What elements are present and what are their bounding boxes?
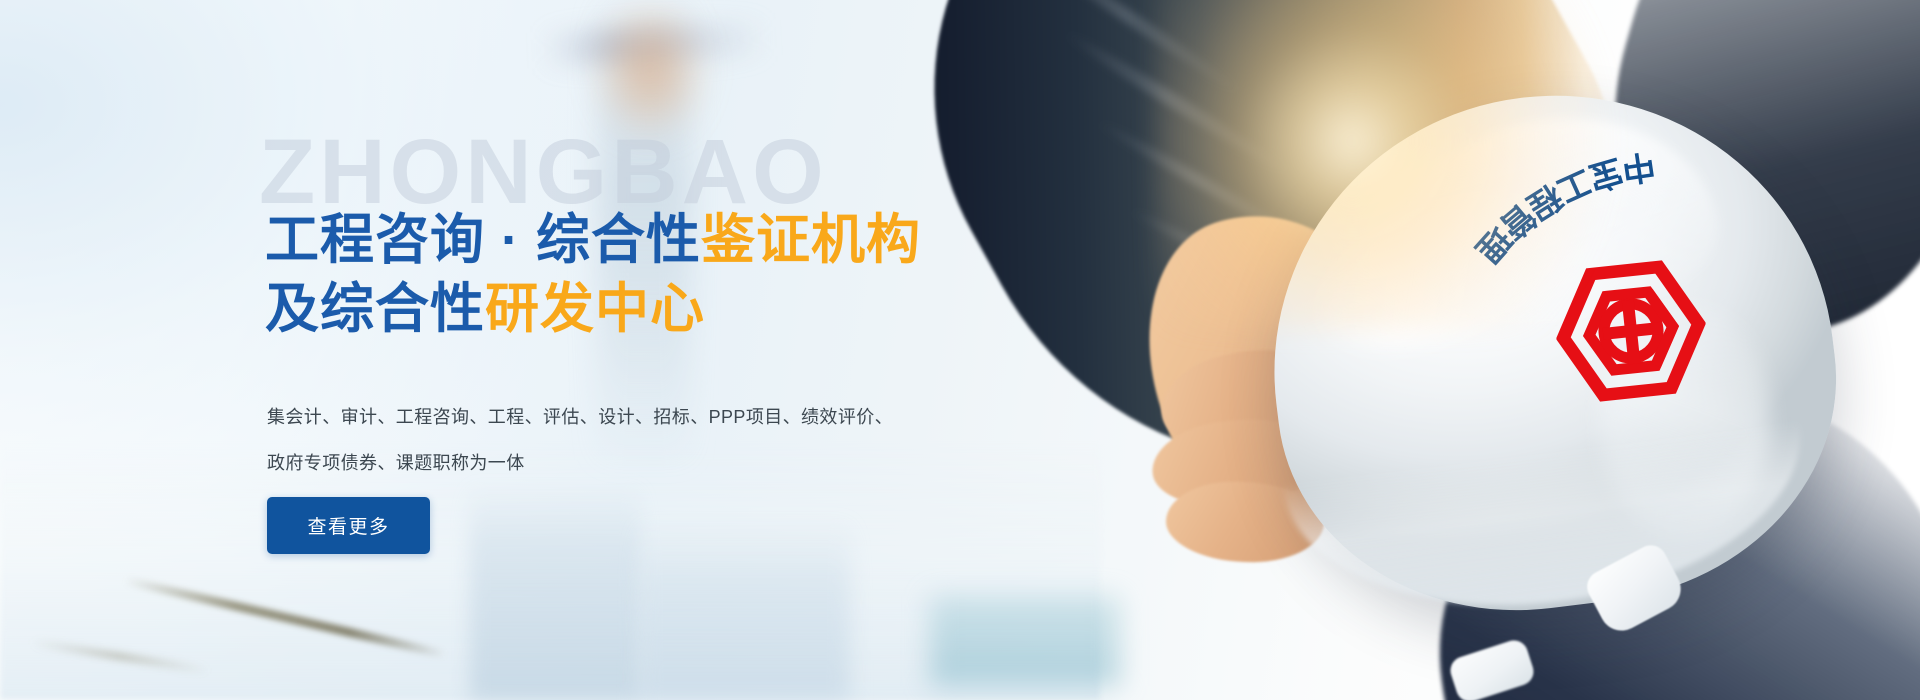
hero-subcopy: 集会计、审计、工程咨询、工程、评估、设计、招标、PPP项目、绩效评价、 政府专项… xyxy=(267,395,997,487)
hero-banner: 中宝工程管理 ZHONGBAO 工程咨询 · 综合性鉴证机构 及综合性研发中心 xyxy=(0,0,1920,700)
headline-line-2-orange: 研发中心 xyxy=(485,279,705,339)
hero-headline: 工程咨询 · 综合性鉴证机构 及综合性研发中心 xyxy=(265,206,1085,344)
hero-content: ZHONGBAO 工程咨询 · 综合性鉴证机构 及综合性研发中心 集会计、审计、… xyxy=(265,0,1085,700)
headline-line-1: 工程咨询 · 综合性鉴证机构 xyxy=(265,206,1085,275)
zhongbao-hexagon-emblem-icon xyxy=(1549,257,1712,406)
headline-line-1-blue: 工程咨询 · 综合性 xyxy=(265,210,701,270)
headline-line-2: 及综合性研发中心 xyxy=(265,275,1085,344)
headline-line-2-blue: 及综合性 xyxy=(265,279,485,339)
subcopy-line-2: 政府专项债券、课题职称为一体 xyxy=(267,441,997,487)
brand-watermark: ZHONGBAO xyxy=(259,126,828,218)
headline-line-1-orange: 鉴证机构 xyxy=(701,210,921,270)
view-more-button[interactable]: 查看更多 xyxy=(267,497,430,554)
subcopy-line-1: 集会计、审计、工程咨询、工程、评估、设计、招标、PPP项目、绩效评价、 xyxy=(267,395,997,441)
